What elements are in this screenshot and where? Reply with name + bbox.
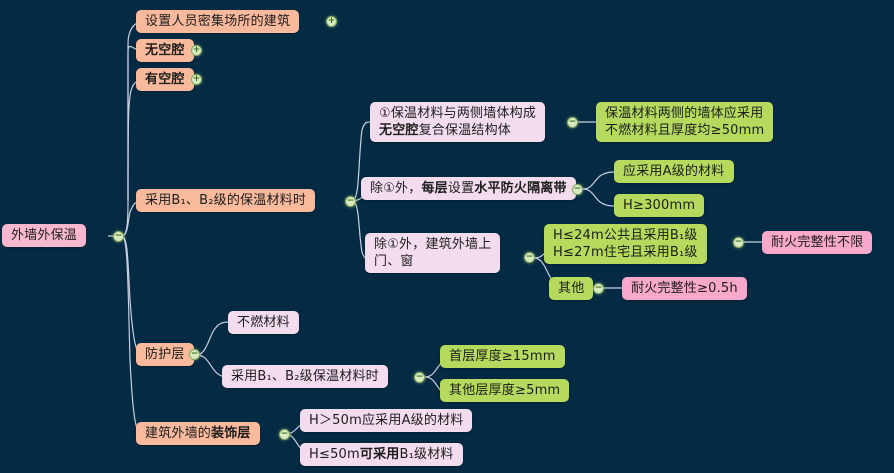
node-label: 耐火完整性不限 — [771, 234, 863, 251]
node-label-line2: 无空腔复合保温结构体 — [379, 122, 511, 139]
node-b1b2-baowen-fanghu[interactable]: 采用B₁、B₂级保温材料时 — [222, 365, 388, 388]
node-label: 无空腔 — [145, 42, 185, 59]
node-label-part2: 装饰层 — [211, 425, 251, 442]
node-qita[interactable]: 其他 — [549, 277, 593, 300]
node-label: H＞50m应采用A级的材料 — [309, 412, 463, 429]
node-label: 首层厚度≥15mm — [449, 348, 556, 365]
node-label-c: 设置 — [448, 180, 474, 197]
toggle-youkongqiang[interactable]: + — [191, 74, 202, 85]
node-label-part1: 建筑外墙的 — [145, 425, 211, 442]
node-shuiping-fanghuo-gelidai[interactable]: 除①外，每层设置水平防火隔离带 — [361, 177, 576, 200]
node-label-line2: 不燃材料且厚度均≥50mm — [605, 122, 764, 139]
node-label-line2: 门、窗 — [374, 253, 414, 270]
mindmap-canvas: 外墙外保温 − 设置人员密集场所的建筑 + 无空腔 + 有空腔 + 采用B₁、B… — [0, 0, 894, 473]
node-label-a: 除①外， — [370, 180, 421, 197]
node-root-label: 外墙外保温 — [11, 227, 77, 244]
node-label: 采用B₁、B₂级的保温材料时 — [145, 192, 306, 209]
node-label-c: B₁ — [399, 446, 414, 463]
node-label: H≥300mm — [623, 197, 695, 214]
node-label-b: 每层 — [421, 180, 447, 197]
node-label-line1: H≤24m公共且采用B₁级 — [553, 227, 698, 244]
node-h-gt-50m[interactable]: H＞50m应采用A级的材料 — [300, 409, 472, 432]
node-label: 防护层 — [145, 346, 185, 363]
node-shouceng-15mm[interactable]: 首层厚度≥15mm — [440, 345, 565, 368]
node-wall-50mm[interactable]: 保温材料两侧的墙体应采用 不燃材料且厚度均≥50mm — [596, 102, 773, 142]
node-naihuo-05h[interactable]: 耐火完整性≥0.5h — [622, 277, 747, 300]
toggle-h24-h27-b1[interactable]: − — [733, 237, 744, 248]
node-label-b: 可采用 — [360, 446, 400, 463]
node-label: 其他 — [558, 280, 584, 297]
node-label: 耐火完整性≥0.5h — [631, 280, 738, 297]
toggle-qita[interactable]: − — [593, 283, 604, 294]
node-label-line2-bold: 无空腔 — [379, 123, 419, 138]
node-root[interactable]: 外墙外保温 — [2, 224, 86, 247]
node-label: 应采用A级的材料 — [623, 163, 725, 180]
node-waiqiang-menchuang[interactable]: 除①外，建筑外墙上 门、窗 — [365, 233, 500, 273]
toggle-fanghuceng[interactable]: − — [189, 349, 200, 360]
node-label-line1: ①保温材料与两侧墙体构成 — [379, 105, 536, 122]
node-label-line1: 保温材料两侧的墙体应采用 — [605, 105, 763, 122]
node-fanghuceng[interactable]: 防护层 — [136, 343, 194, 366]
node-label: 其他层厚度≥5mm — [449, 382, 560, 399]
toggle-shuiping-fanghuo-gelidai[interactable]: − — [572, 184, 583, 195]
toggle-renyuan-mijichangsuo[interactable]: + — [326, 16, 337, 27]
node-label: 设置人员密集场所的建筑 — [145, 13, 290, 30]
node-h-300mm[interactable]: H≥300mm — [614, 194, 704, 217]
node-label: 采用B₁、B₂级保温材料时 — [231, 368, 379, 385]
toggle-b1b2-baowen-fanghu[interactable]: − — [414, 372, 425, 383]
node-label-d: 水平防火隔离带 — [474, 180, 566, 197]
node-a-ji-cailiao[interactable]: 应采用A级的材料 — [614, 160, 734, 183]
node-label-a: H≤50m — [309, 446, 360, 463]
toggle-b1b2-baowen-cailiao[interactable]: − — [345, 196, 356, 207]
node-label: 不燃材料 — [237, 314, 290, 331]
node-naihuo-buxian[interactable]: 耐火完整性不限 — [762, 231, 872, 254]
node-wukongqiang[interactable]: 无空腔 — [136, 39, 194, 62]
node-label-line2-rest: 复合保温结构体 — [419, 123, 511, 138]
toggle-root[interactable]: − — [113, 231, 124, 242]
toggle-wukongqiang[interactable]: + — [191, 45, 202, 56]
node-label-d: 级材料 — [414, 446, 454, 463]
node-youkongqiang[interactable]: 有空腔 — [136, 68, 194, 91]
toggle-zhuangshiceng[interactable]: − — [279, 429, 290, 440]
node-renyuan-mijichangsuo[interactable]: 设置人员密集场所的建筑 — [136, 10, 299, 33]
node-b1b2-baowen-cailiao[interactable]: 采用B₁、B₂级的保温材料时 — [136, 189, 315, 212]
node-label-line1: 除①外，建筑外墙上 — [374, 236, 491, 253]
node-qitaceng-5mm[interactable]: 其他层厚度≥5mm — [440, 379, 569, 402]
node-label-line2: H≤27m住宅且采用B₁级 — [553, 244, 698, 261]
toggle-condition-1[interactable]: − — [567, 117, 578, 128]
node-condition-1[interactable]: ①保温材料与两侧墙体构成 无空腔复合保温结构体 — [370, 102, 545, 142]
node-h-le-50m[interactable]: H≤50m可采用B₁级材料 — [300, 443, 463, 466]
node-label: 有空腔 — [145, 71, 185, 88]
node-h24-h27-b1[interactable]: H≤24m公共且采用B₁级 H≤27m住宅且采用B₁级 — [544, 224, 707, 264]
node-zhuangshiceng[interactable]: 建筑外墙的装饰层 — [136, 422, 260, 445]
node-buran-cailiao[interactable]: 不燃材料 — [228, 311, 299, 334]
toggle-waiqiang-menchuang[interactable]: − — [524, 252, 535, 263]
